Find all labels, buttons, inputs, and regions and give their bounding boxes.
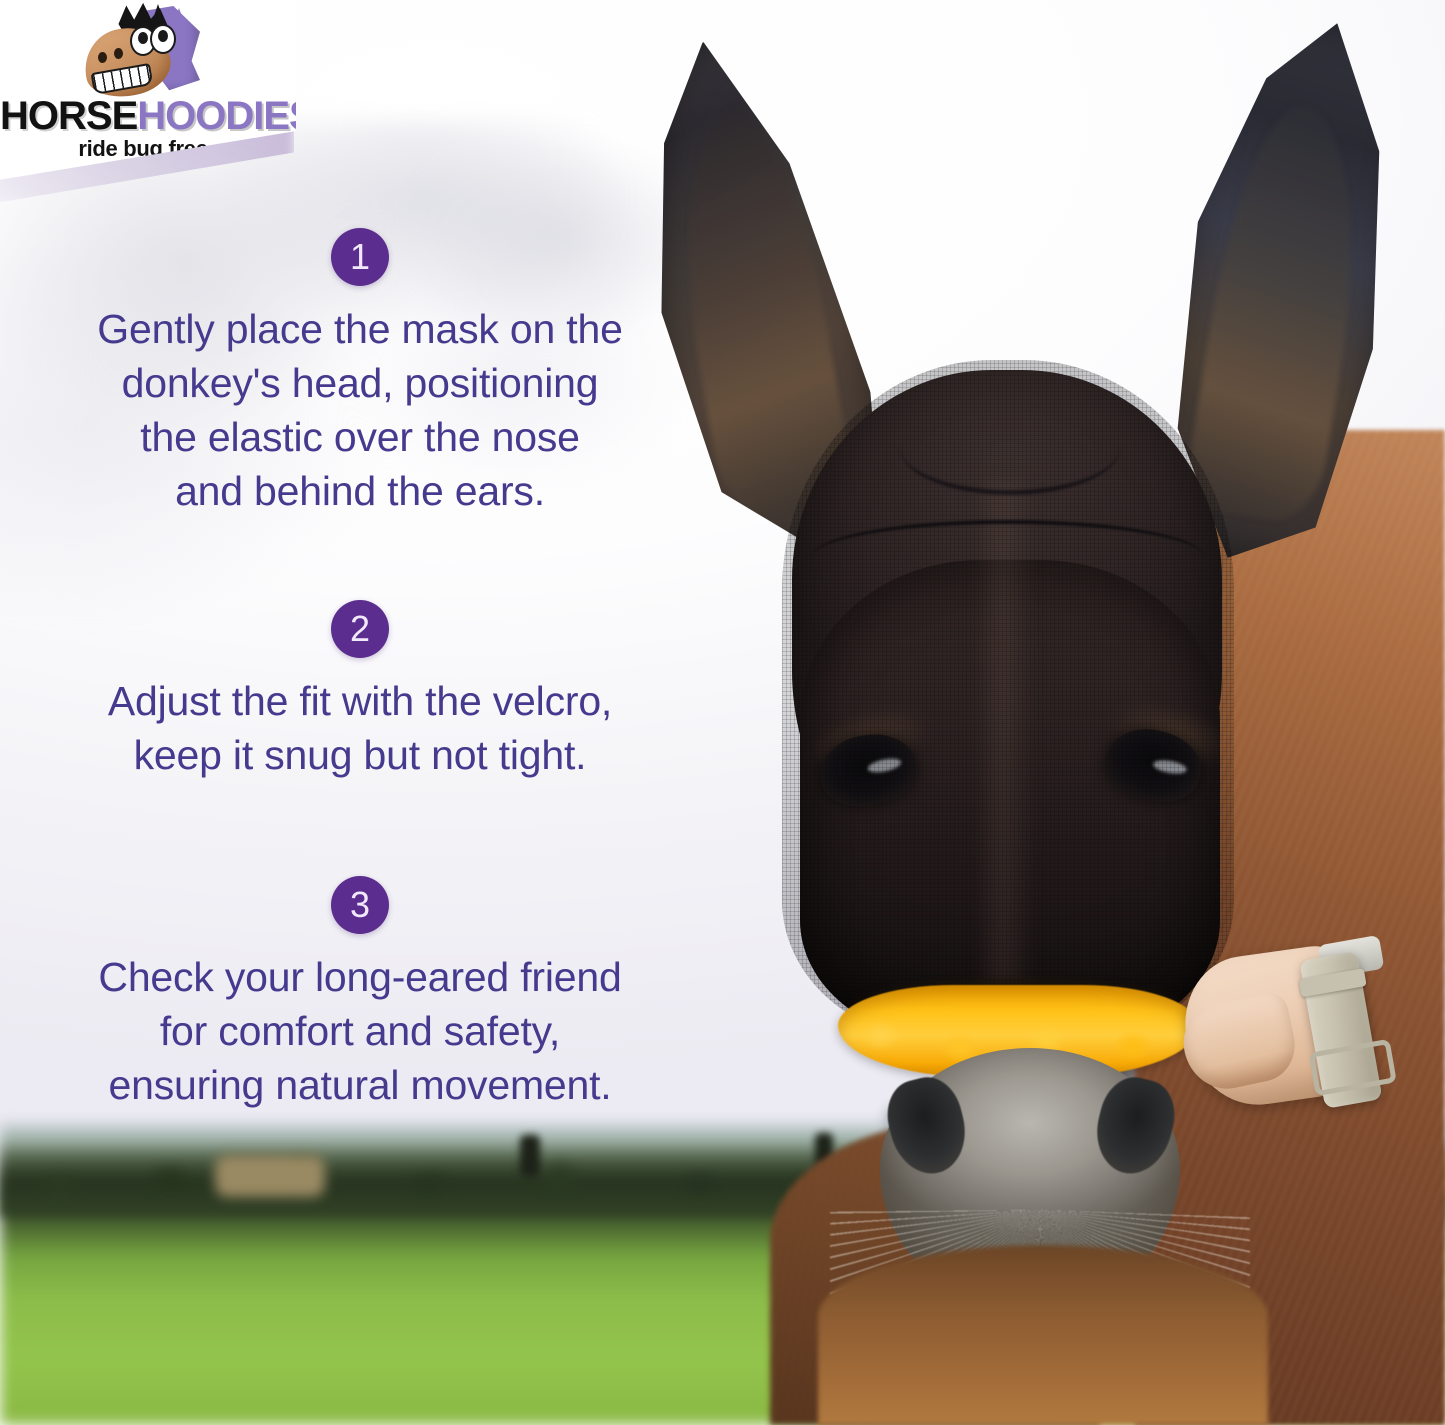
step-1-line-4: and behind the ears. xyxy=(46,464,674,518)
step-1: 1 Gently place the mask on the donkey's … xyxy=(0,228,720,518)
fly-mask-seam xyxy=(812,520,1204,594)
step-1-line-1: Gently place the mask on the xyxy=(46,302,674,356)
step-text-1: Gently place the mask on the donkey's he… xyxy=(0,302,720,518)
step-3-line-3: ensuring natural movement. xyxy=(46,1058,674,1112)
step-2-line-2: keep it snug but not tight. xyxy=(46,728,674,782)
step-2: 2 Adjust the fit with the velcro, keep i… xyxy=(0,600,720,782)
step-3-line-1: Check your long-eared friend xyxy=(46,950,674,1004)
step-badge-1: 1 xyxy=(331,228,389,286)
instruction-steps: 1 Gently place the mask on the donkey's … xyxy=(0,0,720,1425)
step-badge-2: 2 xyxy=(331,600,389,658)
step-3-line-2: for comfort and safety, xyxy=(46,1004,674,1058)
step-1-line-3: the elastic over the nose xyxy=(46,410,674,464)
step-text-3: Check your long-eared friend for comfort… xyxy=(0,950,720,1112)
fly-mask-ear-strap xyxy=(900,400,1120,495)
step-2-line-1: Adjust the fit with the velcro, xyxy=(46,674,674,728)
product-instruction-graphic: HORSEHOODIES ride bug free 1 Gently plac… xyxy=(0,0,1445,1425)
watch-strap-keeper xyxy=(1299,968,1367,997)
step-1-line-2: donkey's head, positioning xyxy=(46,356,674,410)
step-badge-3: 3 xyxy=(331,876,389,934)
donkey-chin-fur xyxy=(818,1245,1268,1425)
step-text-2: Adjust the fit with the velcro, keep it … xyxy=(0,674,720,782)
step-3: 3 Check your long-eared friend for comfo… xyxy=(0,876,720,1112)
